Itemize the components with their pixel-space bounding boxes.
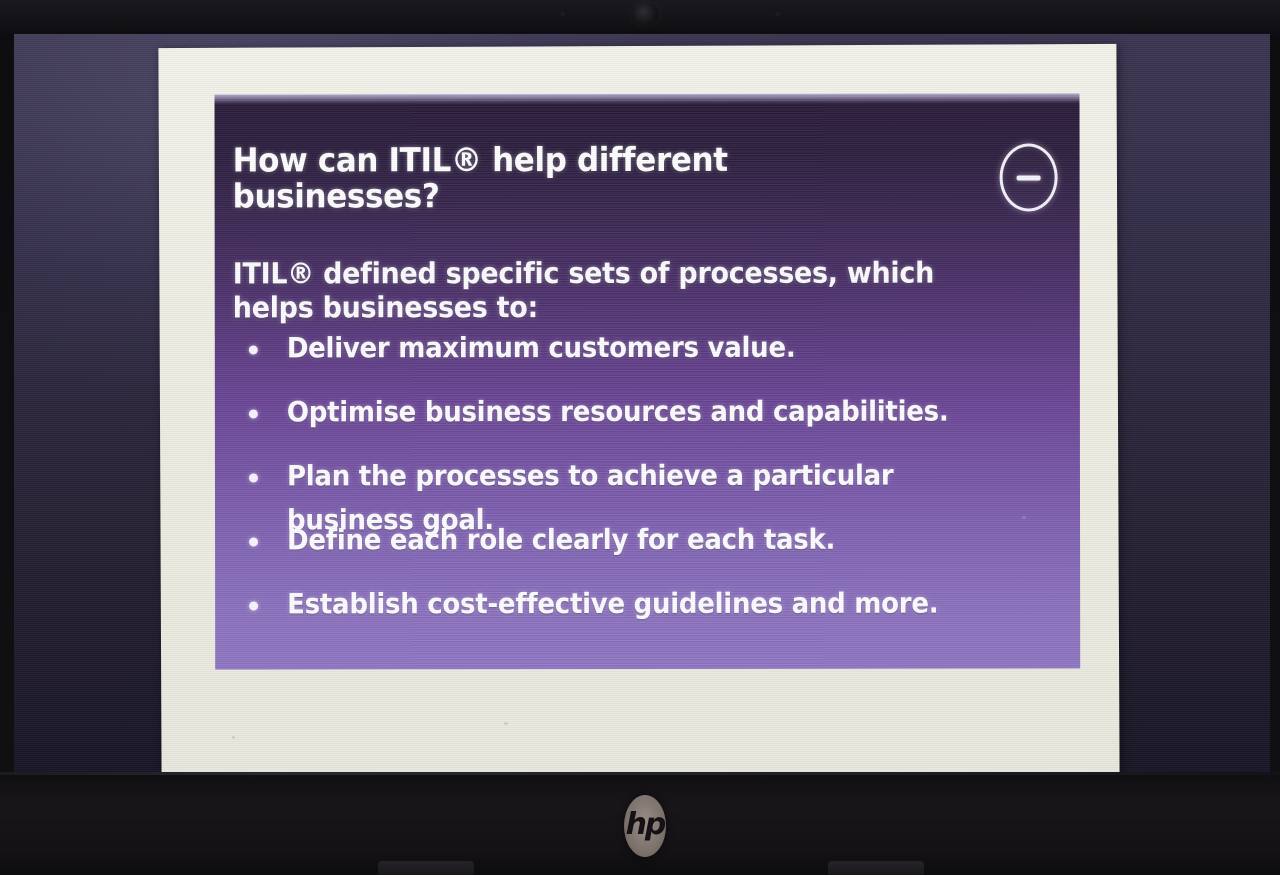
slide-title: How can ITIL® help different businesses?	[233, 142, 910, 215]
bullet-text: Deliver maximum customers value.	[287, 326, 796, 371]
laptop-photo: How can ITIL® help different businesses?…	[0, 0, 1280, 875]
keyboard-deck-shape	[828, 861, 924, 875]
webcam-icon	[631, 2, 659, 26]
list-item: Plan the processes to achieve a particul…	[247, 453, 1047, 518]
slide-intro-text: ITIL® defined specific sets of processes…	[233, 256, 986, 325]
microphone-icon-left	[560, 12, 565, 16]
screen-speck	[880, 420, 883, 423]
bullet-dot-icon	[249, 409, 258, 418]
list-item: Optimise business resources and capabili…	[247, 389, 1047, 454]
document-page: How can ITIL® help different businesses?…	[158, 44, 1119, 776]
screen-speck	[232, 736, 235, 739]
screen-speck	[504, 722, 508, 725]
bullet-text: Optimise business resources and capabili…	[287, 390, 949, 435]
slide-bullet-list: Deliver maximum customers value. Optimis…	[247, 325, 1047, 646]
bullet-dot-icon	[249, 473, 258, 482]
bullet-dot-icon	[249, 601, 258, 610]
slide-panel: How can ITIL® help different businesses?…	[215, 93, 1081, 669]
hp-logo: hp	[624, 795, 666, 857]
list-item: Deliver maximum customers value.	[247, 325, 1047, 390]
microphone-icon-right	[775, 12, 780, 16]
screen-speck	[1022, 516, 1026, 519]
minus-bar	[1017, 175, 1041, 180]
bullet-text: Define each role clearly for each task.	[287, 518, 835, 563]
bullet-dot-icon	[249, 537, 258, 546]
list-item: Define each role clearly for each task.	[247, 517, 1047, 582]
minus-circle-icon[interactable]	[1000, 143, 1058, 211]
bullet-dot-icon	[249, 345, 258, 354]
list-item: Establish cost-effective guidelines and …	[247, 581, 1047, 646]
hp-logo-text: hp	[626, 810, 665, 840]
screen-speck	[726, 270, 730, 273]
bullet-text: Establish cost-effective guidelines and …	[287, 582, 938, 627]
keyboard-deck-shape	[378, 861, 474, 875]
laptop-screen: How can ITIL® help different businesses?…	[14, 34, 1270, 776]
